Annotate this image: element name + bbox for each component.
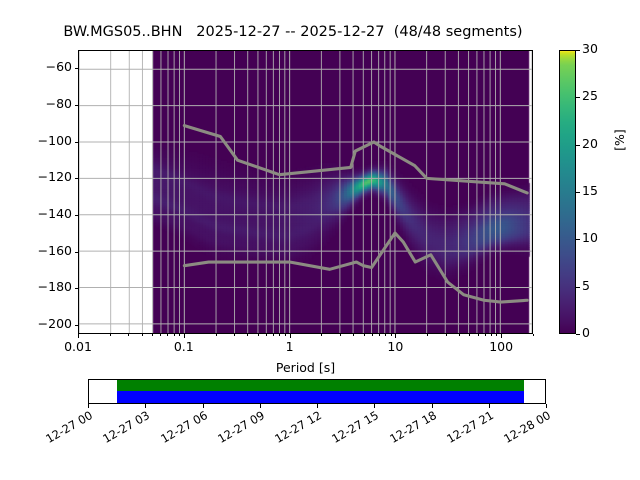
x-minor-tick <box>273 334 274 336</box>
x-minor-tick <box>128 334 129 336</box>
colorbar-tick-label: 30 <box>582 41 598 56</box>
x-minor-tick <box>152 334 153 336</box>
x-minor-tick <box>372 334 373 336</box>
x-minor-tick <box>321 334 322 336</box>
y-tick-mark <box>75 252 79 253</box>
x-tick-mark <box>78 334 79 338</box>
x-tick-mark <box>501 334 502 338</box>
x-tick-label: 10 <box>355 339 435 354</box>
y-tick-mark <box>75 325 79 326</box>
x-minor-tick <box>446 334 447 336</box>
timeline-tick-mark <box>374 404 375 408</box>
x-tick-mark <box>290 334 291 338</box>
y-tick-label: −200 <box>16 316 72 331</box>
timeline-tick-label: 12-27 06 <box>149 408 210 451</box>
data-coverage-blue <box>117 391 523 403</box>
x-minor-tick <box>247 334 248 336</box>
y-tick-mark <box>75 105 79 106</box>
x-minor-tick <box>469 334 470 336</box>
y-tick-label: −120 <box>16 169 72 184</box>
timeline-tick-label: 12-27 21 <box>435 408 496 451</box>
y-tick-label: −100 <box>16 133 72 148</box>
y-tick-label: −80 <box>16 96 72 111</box>
x-tick-label: 1 <box>250 339 330 354</box>
y-tick-label: −180 <box>16 279 72 294</box>
colorbar-tick-label: 25 <box>582 88 598 103</box>
x-tick-mark <box>184 334 185 338</box>
x-minor-tick <box>427 334 428 336</box>
x-minor-tick <box>391 334 392 336</box>
x-tick-label: 0.01 <box>38 339 118 354</box>
timeline-tick-label: 12-27 12 <box>263 408 324 451</box>
x-minor-tick <box>266 334 267 336</box>
y-tick-mark <box>75 142 79 143</box>
x-minor-tick <box>174 334 175 336</box>
x-minor-tick <box>258 334 259 336</box>
y-tick-label: −160 <box>16 243 72 258</box>
y-tick-label: −60 <box>16 59 72 74</box>
x-minor-tick <box>110 334 111 336</box>
noise-model-curves <box>79 51 532 333</box>
colorbar-tick-label: 15 <box>582 183 598 198</box>
colorbar-tick-mark <box>576 287 580 288</box>
x-minor-tick <box>496 334 497 336</box>
timeline-tick-label: 12-28 00 <box>492 408 553 451</box>
x-minor-tick <box>385 334 386 336</box>
x-minor-tick <box>285 334 286 336</box>
x-minor-tick <box>478 334 479 336</box>
ppsd-plot-area[interactable] <box>78 50 533 334</box>
x-minor-tick <box>340 334 341 336</box>
colorbar-tick-label: 20 <box>582 136 598 151</box>
timeline-tick-label: 12-27 15 <box>321 408 382 451</box>
x-minor-tick <box>216 334 217 336</box>
colorbar-tick-label: 5 <box>582 278 590 293</box>
timeline-tick-label: 12-27 00 <box>34 408 95 451</box>
y-tick-mark <box>75 68 79 69</box>
x-minor-tick <box>167 334 168 336</box>
data-coverage-green <box>117 380 523 391</box>
colorbar-tick-mark <box>576 334 580 335</box>
ppsd-figure: BW.MGS05..BHN 2025-12-27 -- 2025-12-27 (… <box>0 0 640 480</box>
x-minor-tick <box>179 334 180 336</box>
data-coverage-timeline[interactable] <box>88 379 546 404</box>
x-minor-tick <box>353 334 354 336</box>
timeline-tick-label: 12-27 03 <box>92 408 153 451</box>
colorbar-tick-label: 10 <box>582 230 598 245</box>
colorbar-tick-mark <box>576 50 580 51</box>
x-minor-tick <box>234 334 235 336</box>
x-minor-tick <box>485 334 486 336</box>
x-axis-title: Period [s] <box>78 360 533 375</box>
x-minor-tick <box>364 334 365 336</box>
colorbar-title: [%] <box>612 110 627 170</box>
y-tick-mark <box>75 178 79 179</box>
timeline-tick-label: 12-27 18 <box>378 408 439 451</box>
colorbar-tick-mark <box>576 239 580 240</box>
y-tick-label: −140 <box>16 206 72 221</box>
colorbar <box>559 50 576 334</box>
x-minor-tick <box>459 334 460 336</box>
x-minor-tick <box>379 334 380 336</box>
colorbar-tick-mark <box>576 97 580 98</box>
page-title: BW.MGS05..BHN 2025-12-27 -- 2025-12-27 (… <box>0 24 586 40</box>
x-minor-tick <box>160 334 161 336</box>
timeline-tick-mark <box>145 404 146 408</box>
x-minor-tick <box>491 334 492 336</box>
x-tick-label: 0.1 <box>144 339 224 354</box>
x-minor-tick <box>533 334 534 336</box>
x-tick-mark <box>395 334 396 338</box>
y-tick-mark <box>75 288 79 289</box>
y-tick-mark <box>75 215 79 216</box>
x-minor-tick <box>142 334 143 336</box>
colorbar-tick-mark <box>576 192 580 193</box>
x-minor-tick <box>279 334 280 336</box>
timeline-tick-label: 12-27 09 <box>206 408 267 451</box>
colorbar-tick-label: 0 <box>582 325 590 340</box>
colorbar-tick-mark <box>576 145 580 146</box>
x-tick-label: 100 <box>461 339 541 354</box>
